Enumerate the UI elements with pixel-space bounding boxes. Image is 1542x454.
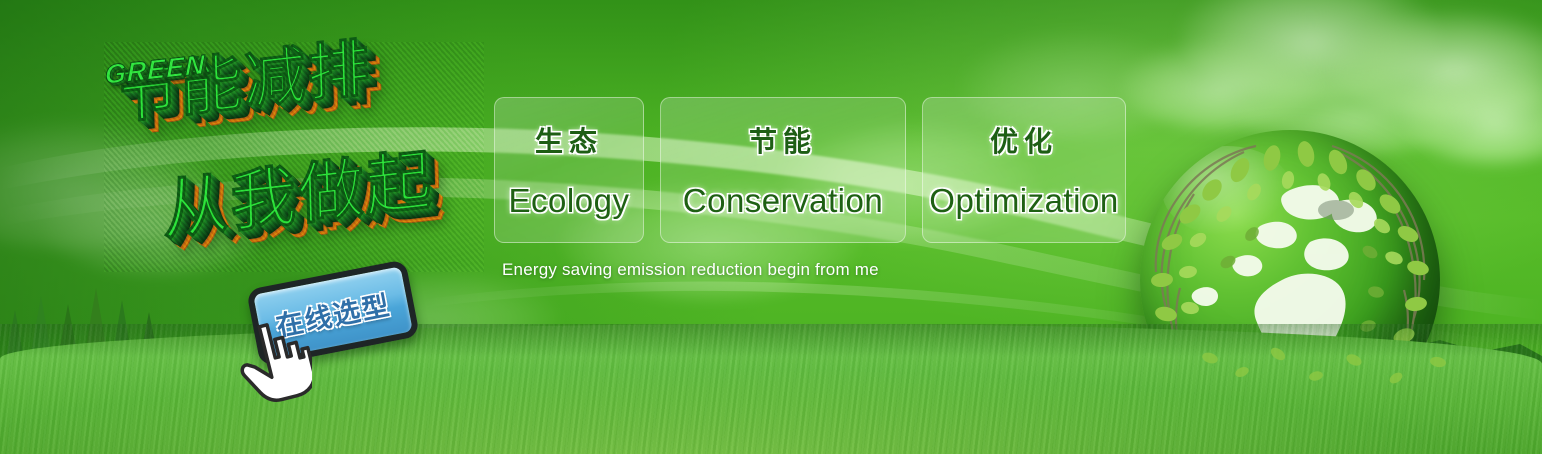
hand-pointer-icon — [238, 318, 312, 404]
feature-card-en-label: Ecology — [509, 182, 630, 220]
headline-artwork: 节能减排 GREEN 从我做起 — [104, 42, 484, 272]
feature-card-cn-label: 优化 — [990, 120, 1058, 160]
tagline-text: Energy saving emission reduction begin f… — [502, 260, 879, 280]
feature-card-optimization[interactable]: 优化 Optimization — [922, 97, 1126, 243]
feature-card-en-label: Conservation — [683, 182, 883, 220]
feature-card-cn-label: 生态 — [535, 120, 603, 160]
headline-line-2: 从我做起 — [162, 146, 434, 243]
feature-card-cn-label: 节能 — [749, 120, 817, 160]
feature-card-ecology[interactable]: 生态 Ecology — [494, 97, 644, 243]
feature-card-conservation[interactable]: 节能 Conservation — [660, 97, 906, 243]
ground-leaves-icon — [1190, 328, 1542, 398]
globe-highlight — [1162, 146, 1292, 236]
feature-card-en-label: Optimization — [929, 182, 1118, 220]
green-promo-banner: 节能减排 GREEN 从我做起 在线选型 生态 Ecology 节能 Conse… — [0, 0, 1542, 454]
